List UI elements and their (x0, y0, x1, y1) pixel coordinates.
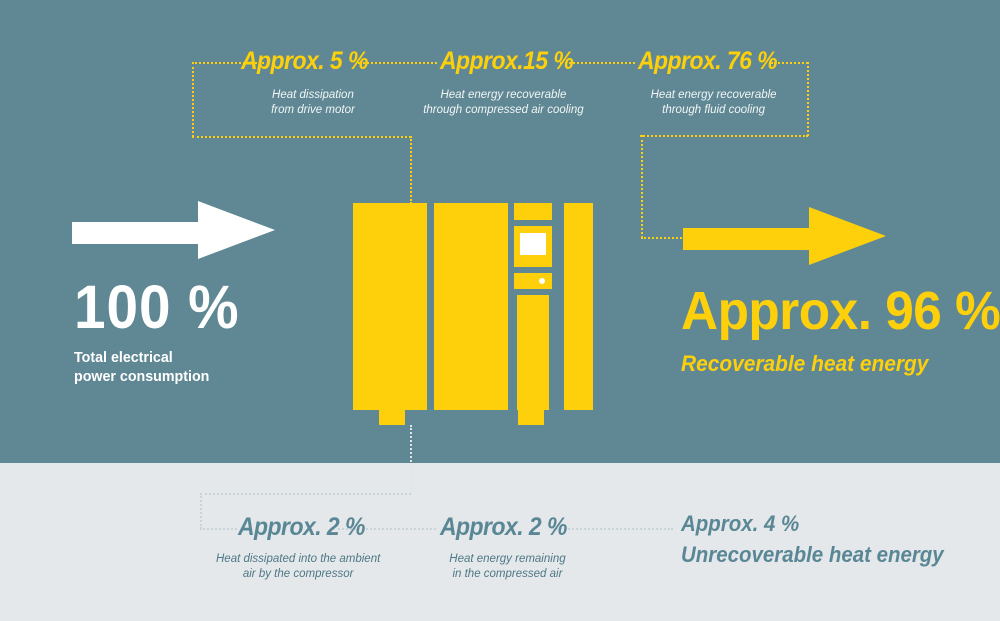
output-arrow-icon (683, 207, 886, 266)
compressor-cabinet-mid (434, 203, 508, 410)
callout-unrecoverable-2pct-a: Approx. 2 % Heat dissipated into the amb… (238, 513, 380, 582)
input-label-line2: power consumption (74, 367, 243, 386)
infographic-canvas: Approx. 5 % Heat dissipation from drive … (0, 0, 1000, 621)
callout-desc-line2: in the compressed air (437, 567, 578, 582)
connector-into-output-arrow (641, 237, 685, 239)
connector-bottom-5pct (192, 136, 411, 138)
callout-desc-line1: Heat energy remaining (437, 552, 578, 567)
callout-desc-line2: through fluid cooling (638, 103, 789, 118)
compressor-cabinet-right (564, 203, 593, 410)
arrow-shaft (72, 222, 202, 244)
control-column-top-cap (514, 203, 552, 220)
callout-percent: Approx.15 % (440, 47, 573, 76)
status-led-icon (539, 278, 545, 284)
screw-compressor-illustration (353, 203, 593, 425)
compressor-cabinet-left (353, 203, 427, 410)
connector-bottom-76pct (640, 135, 808, 137)
callout-percent: Approx. 2 % (440, 513, 567, 542)
callout-desc-line2: through compressed air cooling (422, 103, 585, 118)
arrow-head (198, 201, 275, 259)
connector-bottom-top-edge (200, 493, 411, 495)
connector-into-2pct-a (200, 528, 237, 530)
callout-unrecoverable-2pct-b: Approx. 2 % Heat energy remaining in the… (440, 513, 578, 582)
compressor-control-column (514, 203, 552, 410)
callout-desc-line1: Heat dissipation (247, 88, 379, 103)
callout-recoverable-15pct: Approx.15 % Heat energy recoverable thro… (440, 47, 585, 118)
connector-drop-to-machine-top (410, 136, 412, 204)
input-label-line1: Total electrical (74, 348, 243, 367)
compressor-foot-left (379, 410, 405, 425)
connector-drop-to-output-arrow (641, 135, 643, 238)
output-figure: Approx. 96 % Recoverable heat energy (681, 283, 1000, 377)
callout-desc-line1: Heat dissipated into the ambient (216, 552, 380, 567)
callout-recoverable-76pct: Approx. 76 % Heat energy recoverable thr… (638, 47, 789, 118)
input-percent: 100 % (74, 276, 240, 338)
compressor-foot-right (518, 410, 544, 425)
connector-right-edge-76pct (807, 62, 809, 136)
summary-label: Unrecoverable heat energy (681, 541, 944, 568)
callout-percent: Approx. 2 % (238, 513, 369, 542)
callout-desc-line2: from drive motor (247, 103, 379, 118)
control-panel-display (520, 233, 546, 255)
connector-bottom-left-edge (200, 493, 202, 529)
input-arrow-icon (72, 201, 275, 260)
arrow-shaft (683, 228, 813, 250)
callout-desc-line1: Heat energy recoverable (638, 88, 789, 103)
arrow-head (809, 207, 886, 265)
callout-percent: Approx. 5 % (241, 47, 368, 76)
callout-desc-line2: air by the compressor (216, 567, 380, 582)
control-panel-bezel (514, 226, 552, 267)
control-column-lower-body (517, 295, 549, 410)
connector-left-edge-5pct (192, 62, 194, 137)
callout-desc-line1: Heat energy recoverable (422, 88, 585, 103)
summary-percent: Approx. 4 % (681, 510, 944, 537)
output-label: Recoverable heat energy (681, 351, 1000, 377)
control-panel-button-strip (514, 273, 552, 289)
callout-percent: Approx. 76 % (638, 47, 777, 76)
unrecoverable-summary: Approx. 4 % Unrecoverable heat energy (681, 510, 963, 568)
callout-recoverable-5pct: Approx. 5 % Heat dissipation from drive … (241, 47, 379, 118)
input-figure: 100 % Total electrical power consumption (74, 276, 252, 386)
output-percent: Approx. 96 % (681, 283, 1000, 339)
connector-drop-from-machine-base (410, 425, 412, 493)
